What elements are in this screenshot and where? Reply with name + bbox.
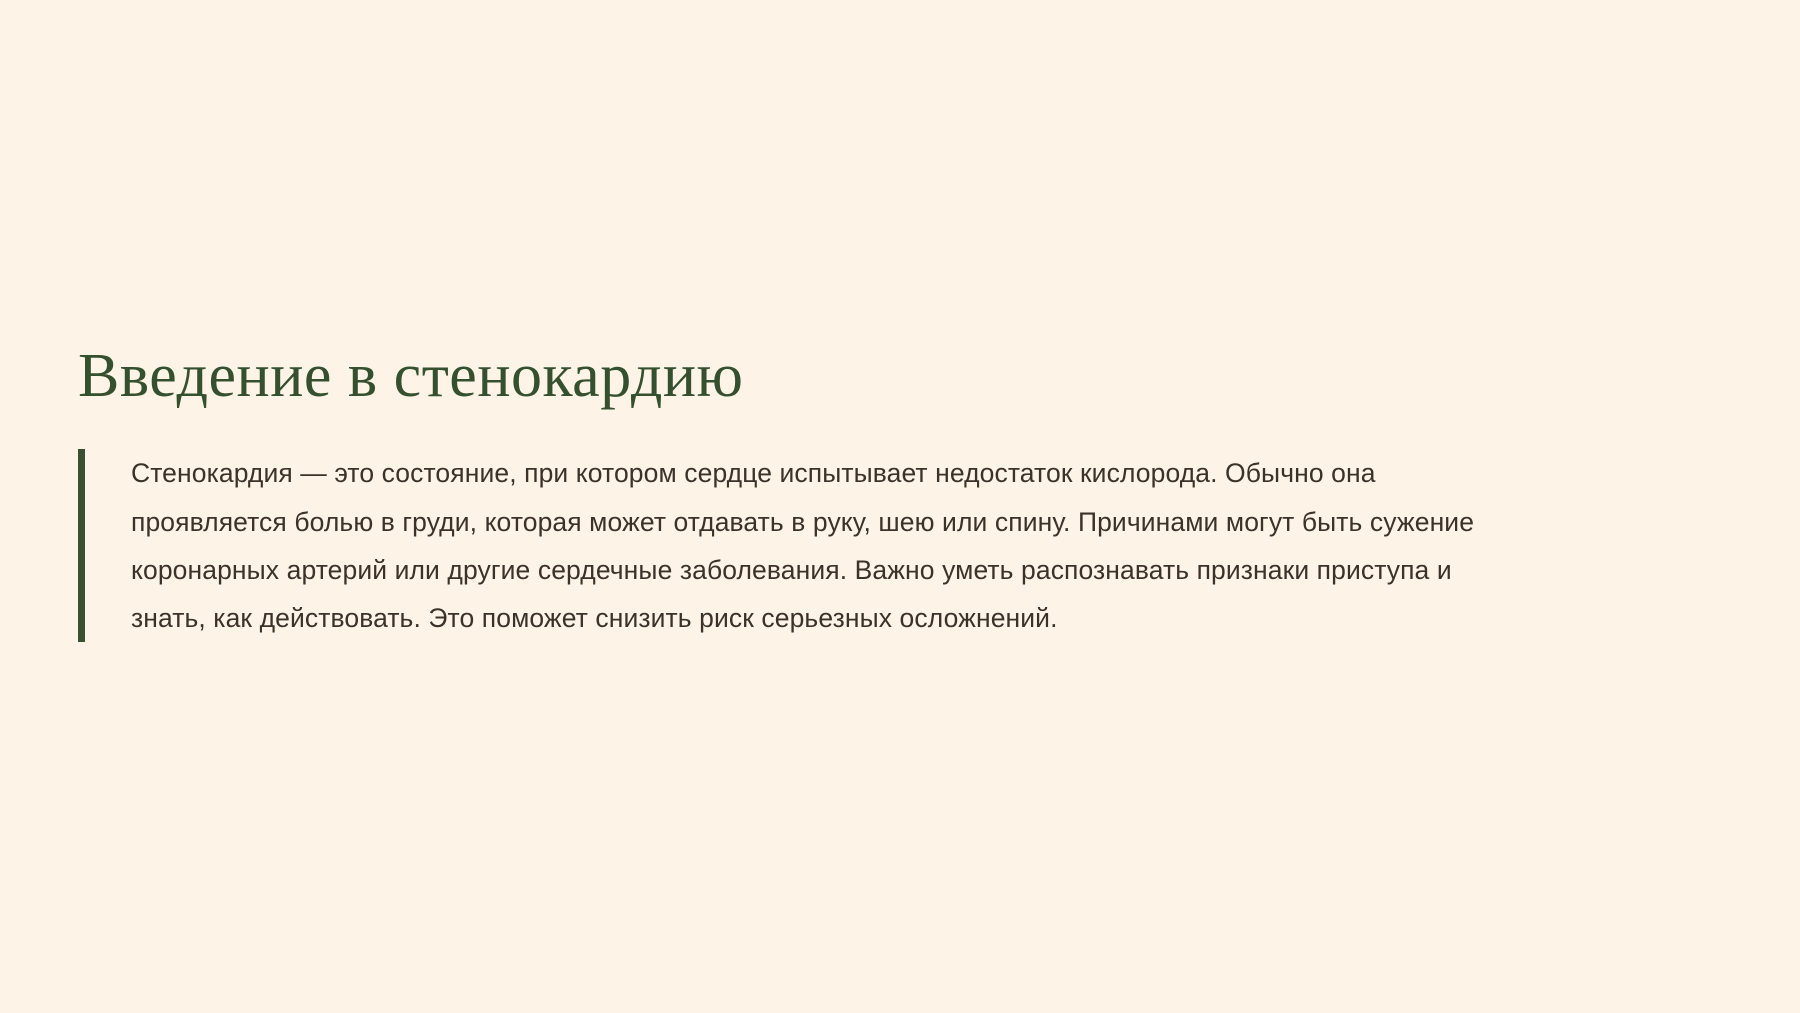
content-container: Введение в стенокардию Стенокардия — это… (78, 342, 1718, 642)
slide-root: Введение в стенокардию Стенокардия — это… (0, 0, 1800, 1013)
quote-text: Стенокардия — это состояние, при котором… (131, 449, 1531, 642)
quote-accent-bar (78, 449, 85, 642)
page-title: Введение в стенокардию (78, 342, 1718, 411)
quote-block: Стенокардия — это состояние, при котором… (78, 449, 1718, 642)
